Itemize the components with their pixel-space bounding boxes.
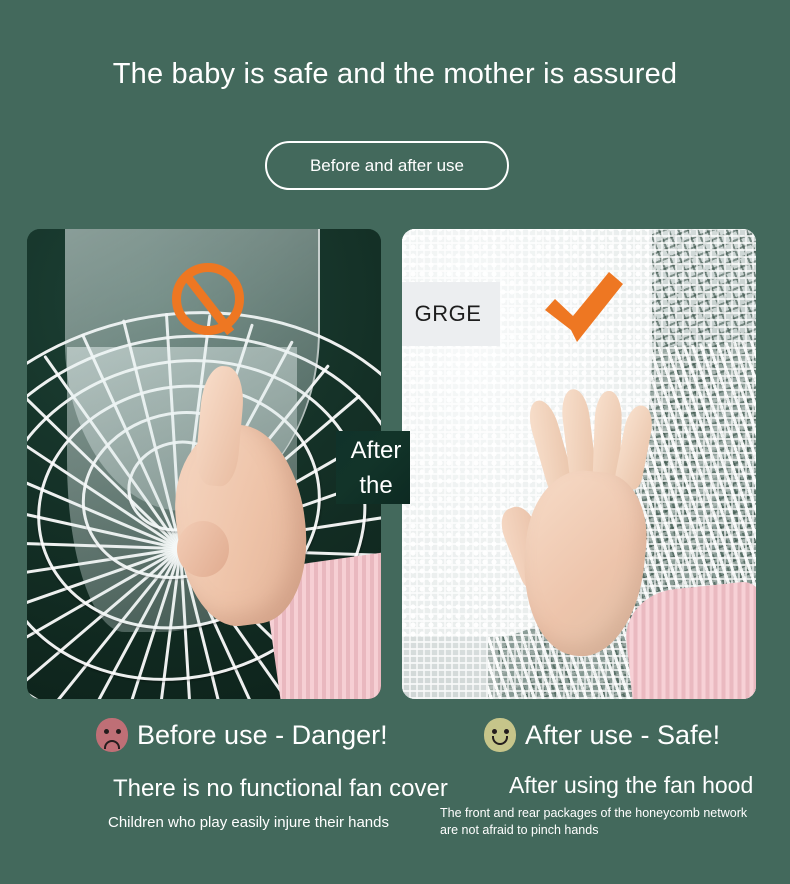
eye-left <box>492 729 497 734</box>
before-after-use-button[interactable]: Before and after use <box>265 141 509 190</box>
page-title: The baby is safe and the mother is assur… <box>0 58 790 91</box>
eye-right <box>116 729 121 734</box>
after-line-1: After <box>330 433 422 468</box>
child-knuckle <box>177 521 229 577</box>
mouth-smile <box>492 736 508 745</box>
caption-after-subtitle: After using the fan hood <box>509 772 753 799</box>
eye-left <box>104 729 109 734</box>
sad-face-icon <box>96 718 128 752</box>
happy-face-icon <box>484 718 516 752</box>
check-icon <box>545 272 623 346</box>
before-after-use-label: Before and after use <box>310 156 464 176</box>
after-the-overlay-text: After the <box>330 433 422 503</box>
caption-before: Before use - Danger! <box>96 718 388 752</box>
caption-before-subtitle: There is no functional fan cover <box>113 775 448 803</box>
prohibition-icon <box>172 263 244 335</box>
brand-label: GRGE <box>402 282 500 346</box>
caption-after-detail: The front and rear packages of the honey… <box>440 805 750 839</box>
caption-row: Before use - Danger! After use - Safe! <box>0 718 790 764</box>
after-line-2: the <box>330 468 422 503</box>
caption-after-title: After use - Safe! <box>525 720 720 751</box>
caption-after: After use - Safe! <box>484 718 720 752</box>
caption-before-detail: Children who play easily injure their ha… <box>108 814 389 831</box>
caption-before-title: Before use - Danger! <box>137 720 388 751</box>
eye-right <box>504 729 509 734</box>
mouth-frown <box>104 740 120 749</box>
